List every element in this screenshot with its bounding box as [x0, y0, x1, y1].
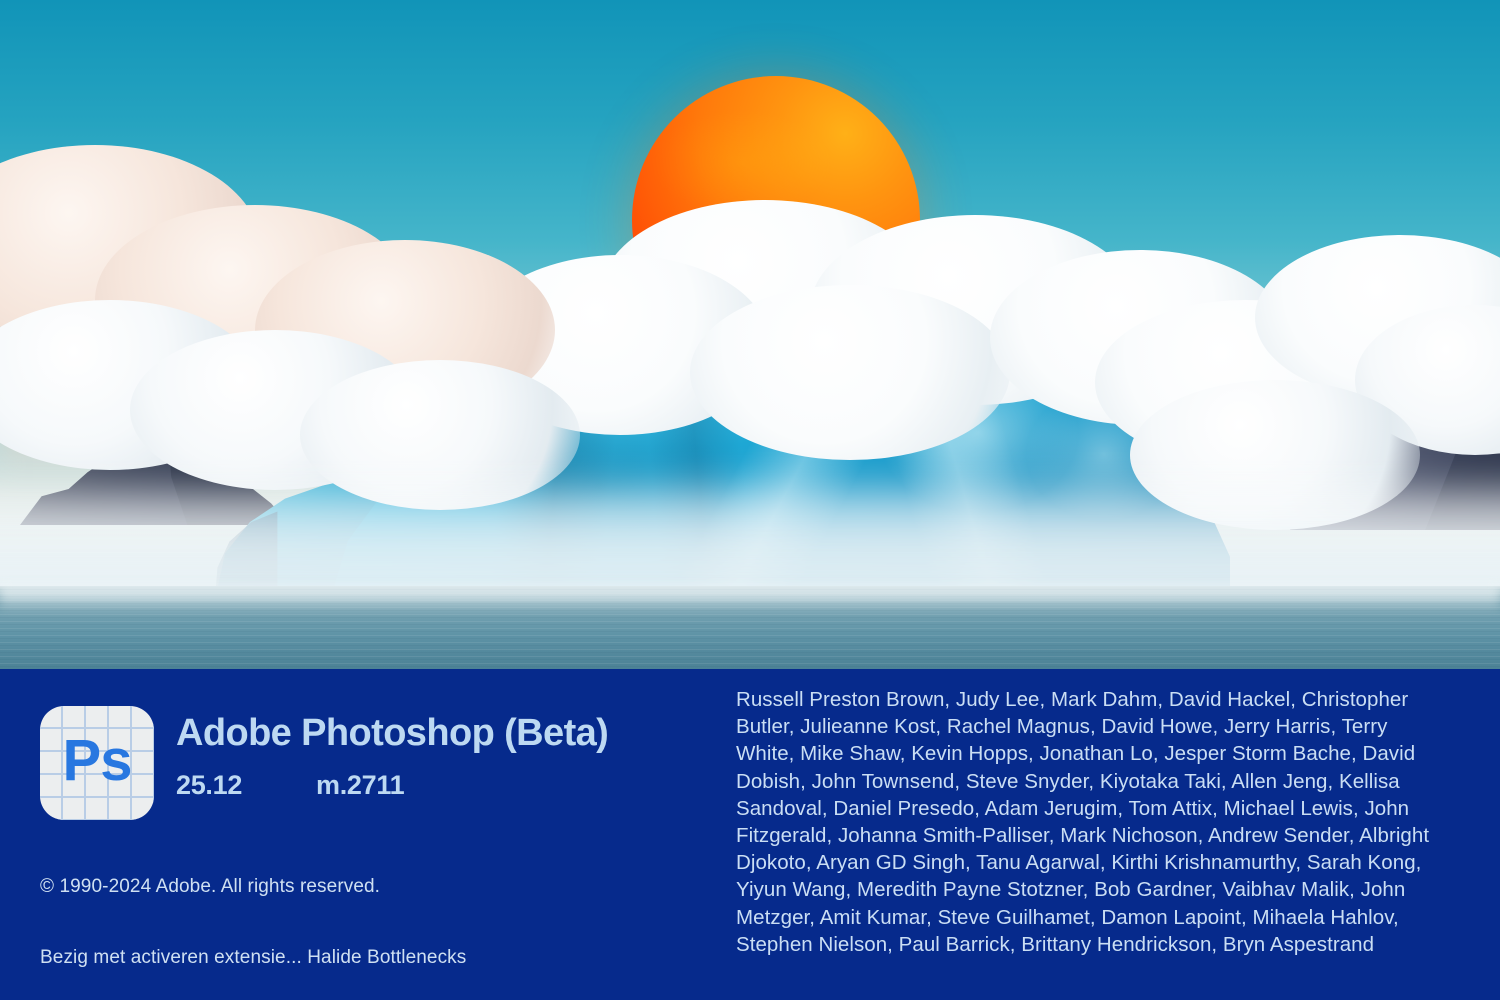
copyright-text: © 1990-2024 Adobe. All rights reserved.: [40, 876, 680, 898]
splash-artwork: [0, 0, 1500, 669]
cloud-center-low: [690, 285, 1010, 460]
credits-line: Stephen Nielson, Paul Barrick, Brittany …: [736, 931, 1476, 958]
version-row: 25.12 m.2711: [176, 770, 608, 801]
credits-line: White, Mike Shaw, Kevin Hopps, Jonathan …: [736, 740, 1476, 767]
credits-line: Metzger, Amit Kumar, Steve Guilhamet, Da…: [736, 904, 1476, 931]
water-horizon-glow: [0, 586, 1500, 612]
app-header: Ps Adobe Photoshop (Beta) 25.12 m.2711: [40, 706, 680, 820]
credits-line: Yiyun Wang, Meredith Payne Stotzner, Bob…: [736, 876, 1476, 903]
credits-line: Dobish, John Townsend, Steve Snyder, Kiy…: [736, 768, 1476, 795]
splash-info-panel: Ps Adobe Photoshop (Beta) 25.12 m.2711 ©…: [0, 669, 1500, 1000]
version-number: 25.12: [176, 770, 316, 801]
credits-line: Sandoval, Daniel Presedo, Adam Jerugim, …: [736, 795, 1476, 822]
credits-line: Butler, Julieanne Kost, Rachel Magnus, D…: [736, 713, 1476, 740]
credits-line: Djokoto, Aryan GD Singh, Tanu Agarwal, K…: [736, 849, 1476, 876]
app-title: Adobe Photoshop (Beta): [176, 714, 608, 754]
photoshop-icon: Ps: [40, 706, 154, 820]
credits-list: Russell Preston Brown, Judy Lee, Mark Da…: [736, 686, 1476, 958]
credits-line: Fitzgerald, Johanna Smith-Palliser, Mark…: [736, 822, 1476, 849]
title-block: Adobe Photoshop (Beta) 25.12 m.2711: [176, 706, 608, 801]
loading-status-text: Bezig met activeren extensie... Halide B…: [40, 947, 680, 969]
splash-screen: Ps Adobe Photoshop (Beta) 25.12 m.2711 ©…: [0, 0, 1500, 1000]
build-number: m.2711: [316, 770, 404, 801]
icon-ps-letters: Ps: [40, 706, 154, 820]
credits-line: Russell Preston Brown, Judy Lee, Mark Da…: [736, 686, 1476, 713]
app-info-column: Ps Adobe Photoshop (Beta) 25.12 m.2711 ©…: [40, 706, 680, 969]
water-surface: [0, 586, 1500, 669]
